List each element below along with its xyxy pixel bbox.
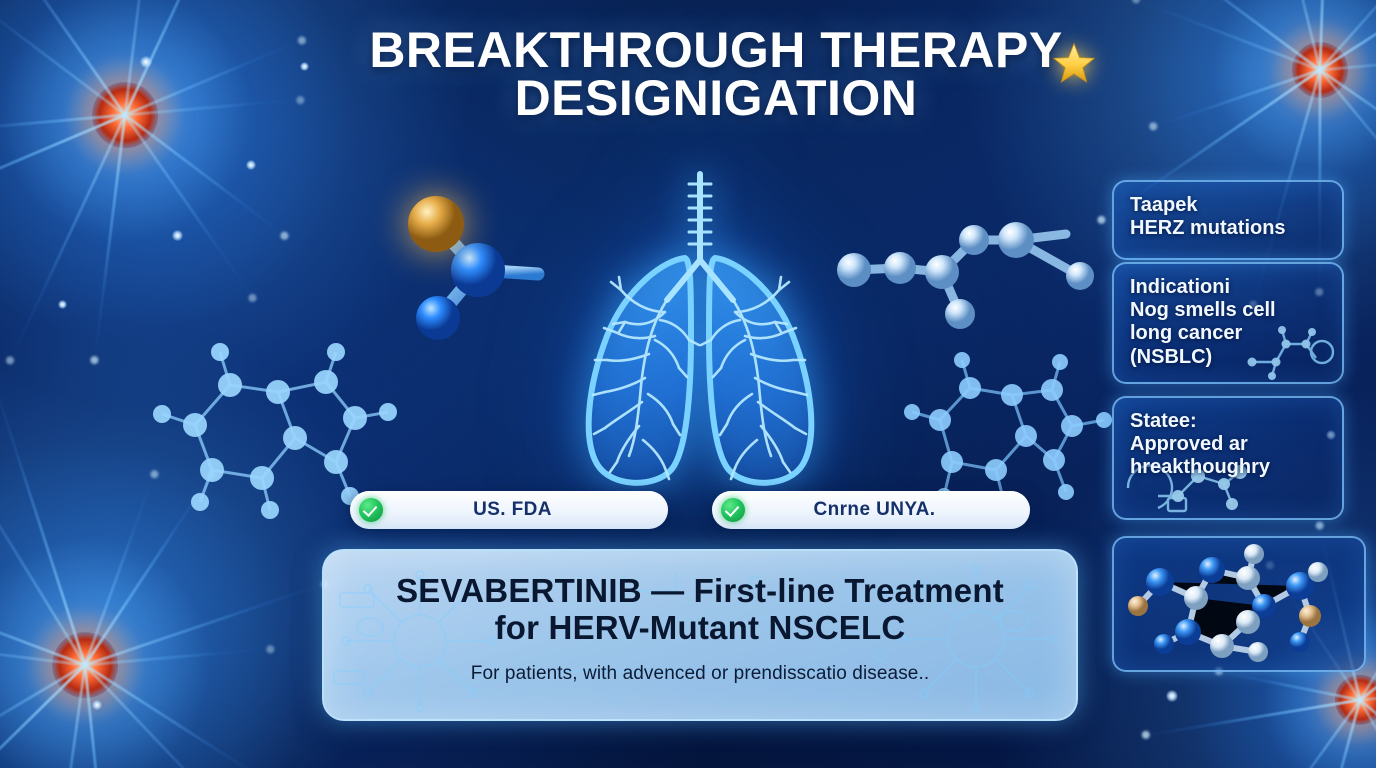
neuron-arm xyxy=(84,474,212,665)
spark xyxy=(92,700,102,710)
neuron-arm xyxy=(9,114,126,360)
spark xyxy=(172,230,183,241)
spark xyxy=(246,160,256,170)
neuron-arm xyxy=(124,39,302,117)
spark xyxy=(58,300,67,309)
neuron-halo xyxy=(0,0,360,350)
neuron-arm xyxy=(124,114,255,299)
info-card-text: Indicationi Nog smells cell long cancer … xyxy=(1114,264,1342,369)
headline-banner: SEVABERTINIB — First-line Treatment for … xyxy=(322,549,1078,721)
neuron-arm xyxy=(1135,0,1321,71)
info-card-line: Taapek xyxy=(1130,194,1328,217)
neuron-arm xyxy=(85,582,325,666)
neuron-arm xyxy=(84,664,249,768)
neuron-arm xyxy=(1359,699,1376,768)
page-title: BREAKTHROUGH THERAPY DESIGNIGATION xyxy=(336,26,1096,122)
spark xyxy=(140,56,152,68)
neuron-arm xyxy=(1319,69,1376,174)
poster-canvas: BREAKTHROUGH THERAPY DESIGNIGATION US. F… xyxy=(0,0,1376,768)
neuron-arm xyxy=(44,665,86,768)
neuron-arm xyxy=(1143,0,1321,71)
neuron-arm xyxy=(85,647,271,666)
neuron-arm xyxy=(0,0,126,116)
neuron-arm xyxy=(0,114,126,232)
banner-text-block: SEVABERTINIB — First-line Treatment for … xyxy=(324,551,1076,685)
info-card-target[interactable]: Taapek HERZ mutations xyxy=(1112,180,1344,260)
neuron-halo xyxy=(0,430,320,768)
info-card-line: Nog smells cell xyxy=(1130,299,1328,322)
neuron-arm xyxy=(1319,0,1331,70)
neuron-arm xyxy=(1320,55,1376,72)
neuron-arm xyxy=(0,664,86,768)
neuron-arm xyxy=(84,664,263,768)
info-card-line: HERZ mutations xyxy=(1130,217,1328,240)
neuron-graphic-bottom-left xyxy=(0,430,320,768)
info-card-line: Approved ar xyxy=(1130,433,1328,456)
spark xyxy=(1166,690,1178,702)
neuron-arm xyxy=(0,0,126,116)
neuron-arm xyxy=(0,114,125,134)
banner-subtitle: For patients, with advenced or prendissc… xyxy=(324,663,1076,685)
neuron-arm xyxy=(84,665,114,768)
banner-line-2: for HERV-Mutant NSCELC xyxy=(324,610,1076,647)
info-card-indication[interactable]: Indicationi Nog smells cell long cancer … xyxy=(1112,262,1344,384)
neuron-core xyxy=(52,632,118,698)
neuron-core xyxy=(1292,42,1348,98)
approval-label: Cnrne UNYA. xyxy=(745,499,1030,521)
neuron-arm xyxy=(93,115,126,360)
info-card-text: Statee: Approved ar hreakthoughry xyxy=(1114,398,1342,480)
neuron-arm xyxy=(1319,0,1376,71)
neuron-arm xyxy=(0,372,86,665)
neuron-arm xyxy=(1153,69,1321,129)
neuron-arm xyxy=(0,573,86,667)
neuron-arm xyxy=(1261,0,1321,70)
spark xyxy=(300,62,309,71)
approval-pill-us-fda[interactable]: US. FDA xyxy=(350,491,668,529)
check-circle-icon xyxy=(359,498,383,522)
check-circle-icon xyxy=(721,498,745,522)
neuron-core xyxy=(92,82,158,148)
title-line-1: BREAKTHROUGH THERAPY xyxy=(336,26,1096,74)
lungs-icon xyxy=(515,140,885,500)
neuron-arm xyxy=(1359,699,1376,768)
molecule-icon xyxy=(1124,544,1354,664)
info-card-line: long cancer xyxy=(1130,322,1328,345)
info-card-line: Indicationi xyxy=(1130,276,1328,299)
info-card-text: Taapek HERZ mutations xyxy=(1114,182,1342,240)
neuron-arm xyxy=(0,424,86,666)
neuron-arm xyxy=(0,635,85,666)
neuron-arm xyxy=(1319,0,1376,71)
neuron-arm xyxy=(1146,699,1360,737)
neuron-arm xyxy=(125,98,301,116)
neuron-arm xyxy=(0,664,86,768)
approval-label: US. FDA xyxy=(383,499,668,521)
info-card-line: hreakthoughry xyxy=(1130,456,1328,479)
neuron-arm xyxy=(124,114,285,237)
star-icon xyxy=(1053,42,1095,84)
neuron-arm xyxy=(1360,687,1376,701)
banner-line-1: SEVABERTINIB — First-line Treatment xyxy=(324,573,1076,610)
neuron-arm xyxy=(84,474,156,666)
approval-pill-china-nmpa[interactable]: Cnrne UNYA. xyxy=(712,491,1030,529)
neuron-arm xyxy=(1311,700,1362,768)
neuron-core xyxy=(1335,675,1376,725)
info-card-status[interactable]: Statee: Approved ar hreakthoughry xyxy=(1112,396,1344,520)
info-card-line: (NSBLC) xyxy=(1130,346,1328,369)
info-card-line: Statee: xyxy=(1130,410,1328,433)
info-card-molecule[interactable] xyxy=(1112,536,1366,672)
title-line-2: DESIGNIGATION xyxy=(336,74,1096,122)
neuron-arm xyxy=(1242,699,1361,768)
neuron-arm xyxy=(1218,670,1360,701)
neuron-graphic-top-left xyxy=(0,0,360,350)
